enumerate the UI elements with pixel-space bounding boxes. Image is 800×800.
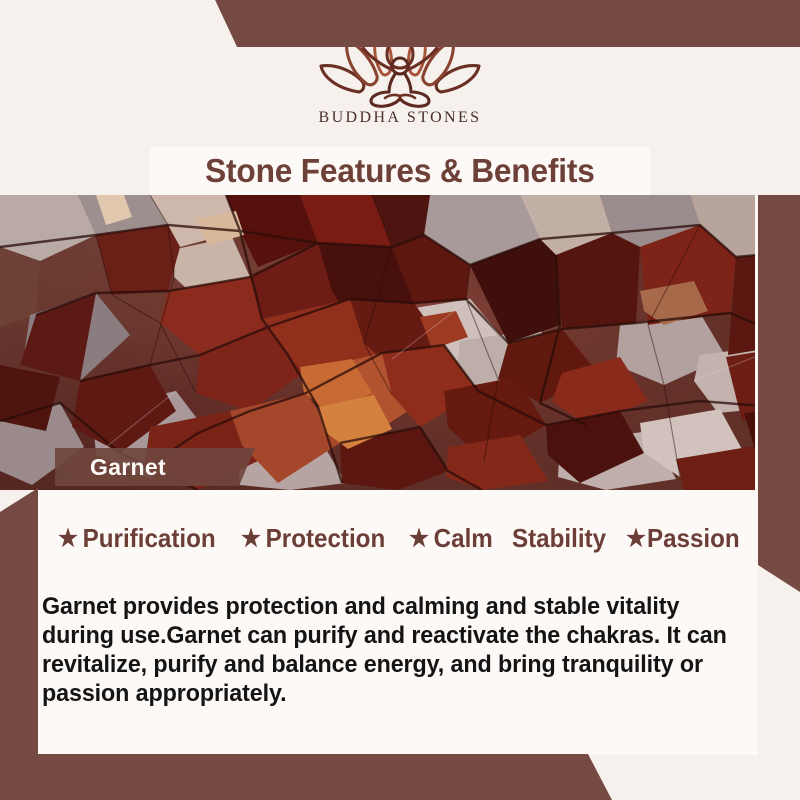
frame-bottom-band bbox=[0, 754, 800, 800]
benefit-keywords-row: ★ Purification ★ Protection ★ Calm Stabi… bbox=[58, 523, 748, 554]
page-title: Stone Features & Benefits bbox=[150, 146, 650, 195]
stone-name-banner: Garnet bbox=[55, 448, 255, 486]
star-icon: ★ bbox=[626, 527, 646, 551]
benefit-keyword-stability: Stability bbox=[512, 523, 606, 554]
benefit-keyword-passion: ★ Passion bbox=[626, 523, 740, 554]
star-icon: ★ bbox=[409, 527, 429, 551]
star-icon: ★ bbox=[241, 527, 261, 551]
benefit-keyword-label: Protection bbox=[265, 523, 385, 554]
benefit-keyword-purification: ★ Purification bbox=[58, 523, 216, 554]
star-icon: ★ bbox=[58, 527, 78, 551]
benefit-keyword-label: Stability bbox=[512, 523, 606, 554]
benefits-section: ★ Purification ★ Protection ★ Calm Stabi… bbox=[38, 490, 758, 755]
stone-name-label: Garnet bbox=[90, 454, 166, 481]
garnet-crystal-cluster-photo bbox=[0, 195, 800, 490]
benefit-keyword-calm: ★ Calm bbox=[409, 523, 493, 554]
brand-name: BUDDHA STONES bbox=[0, 109, 800, 127]
benefits-description: Garnet provides protection and calming a… bbox=[42, 592, 737, 708]
benefit-keyword-protection: ★ Protection bbox=[241, 523, 385, 554]
benefit-keyword-label: Passion bbox=[647, 523, 740, 554]
page-title-text: Stone Features & Benefits bbox=[205, 152, 595, 190]
stone-info-card: Garnet ★ Purification ★ Protection ★ Cal… bbox=[0, 0, 800, 800]
frame-left-band bbox=[0, 488, 38, 800]
benefit-keyword-label: Purification bbox=[83, 523, 216, 554]
benefit-keyword-label: Calm bbox=[433, 523, 492, 554]
